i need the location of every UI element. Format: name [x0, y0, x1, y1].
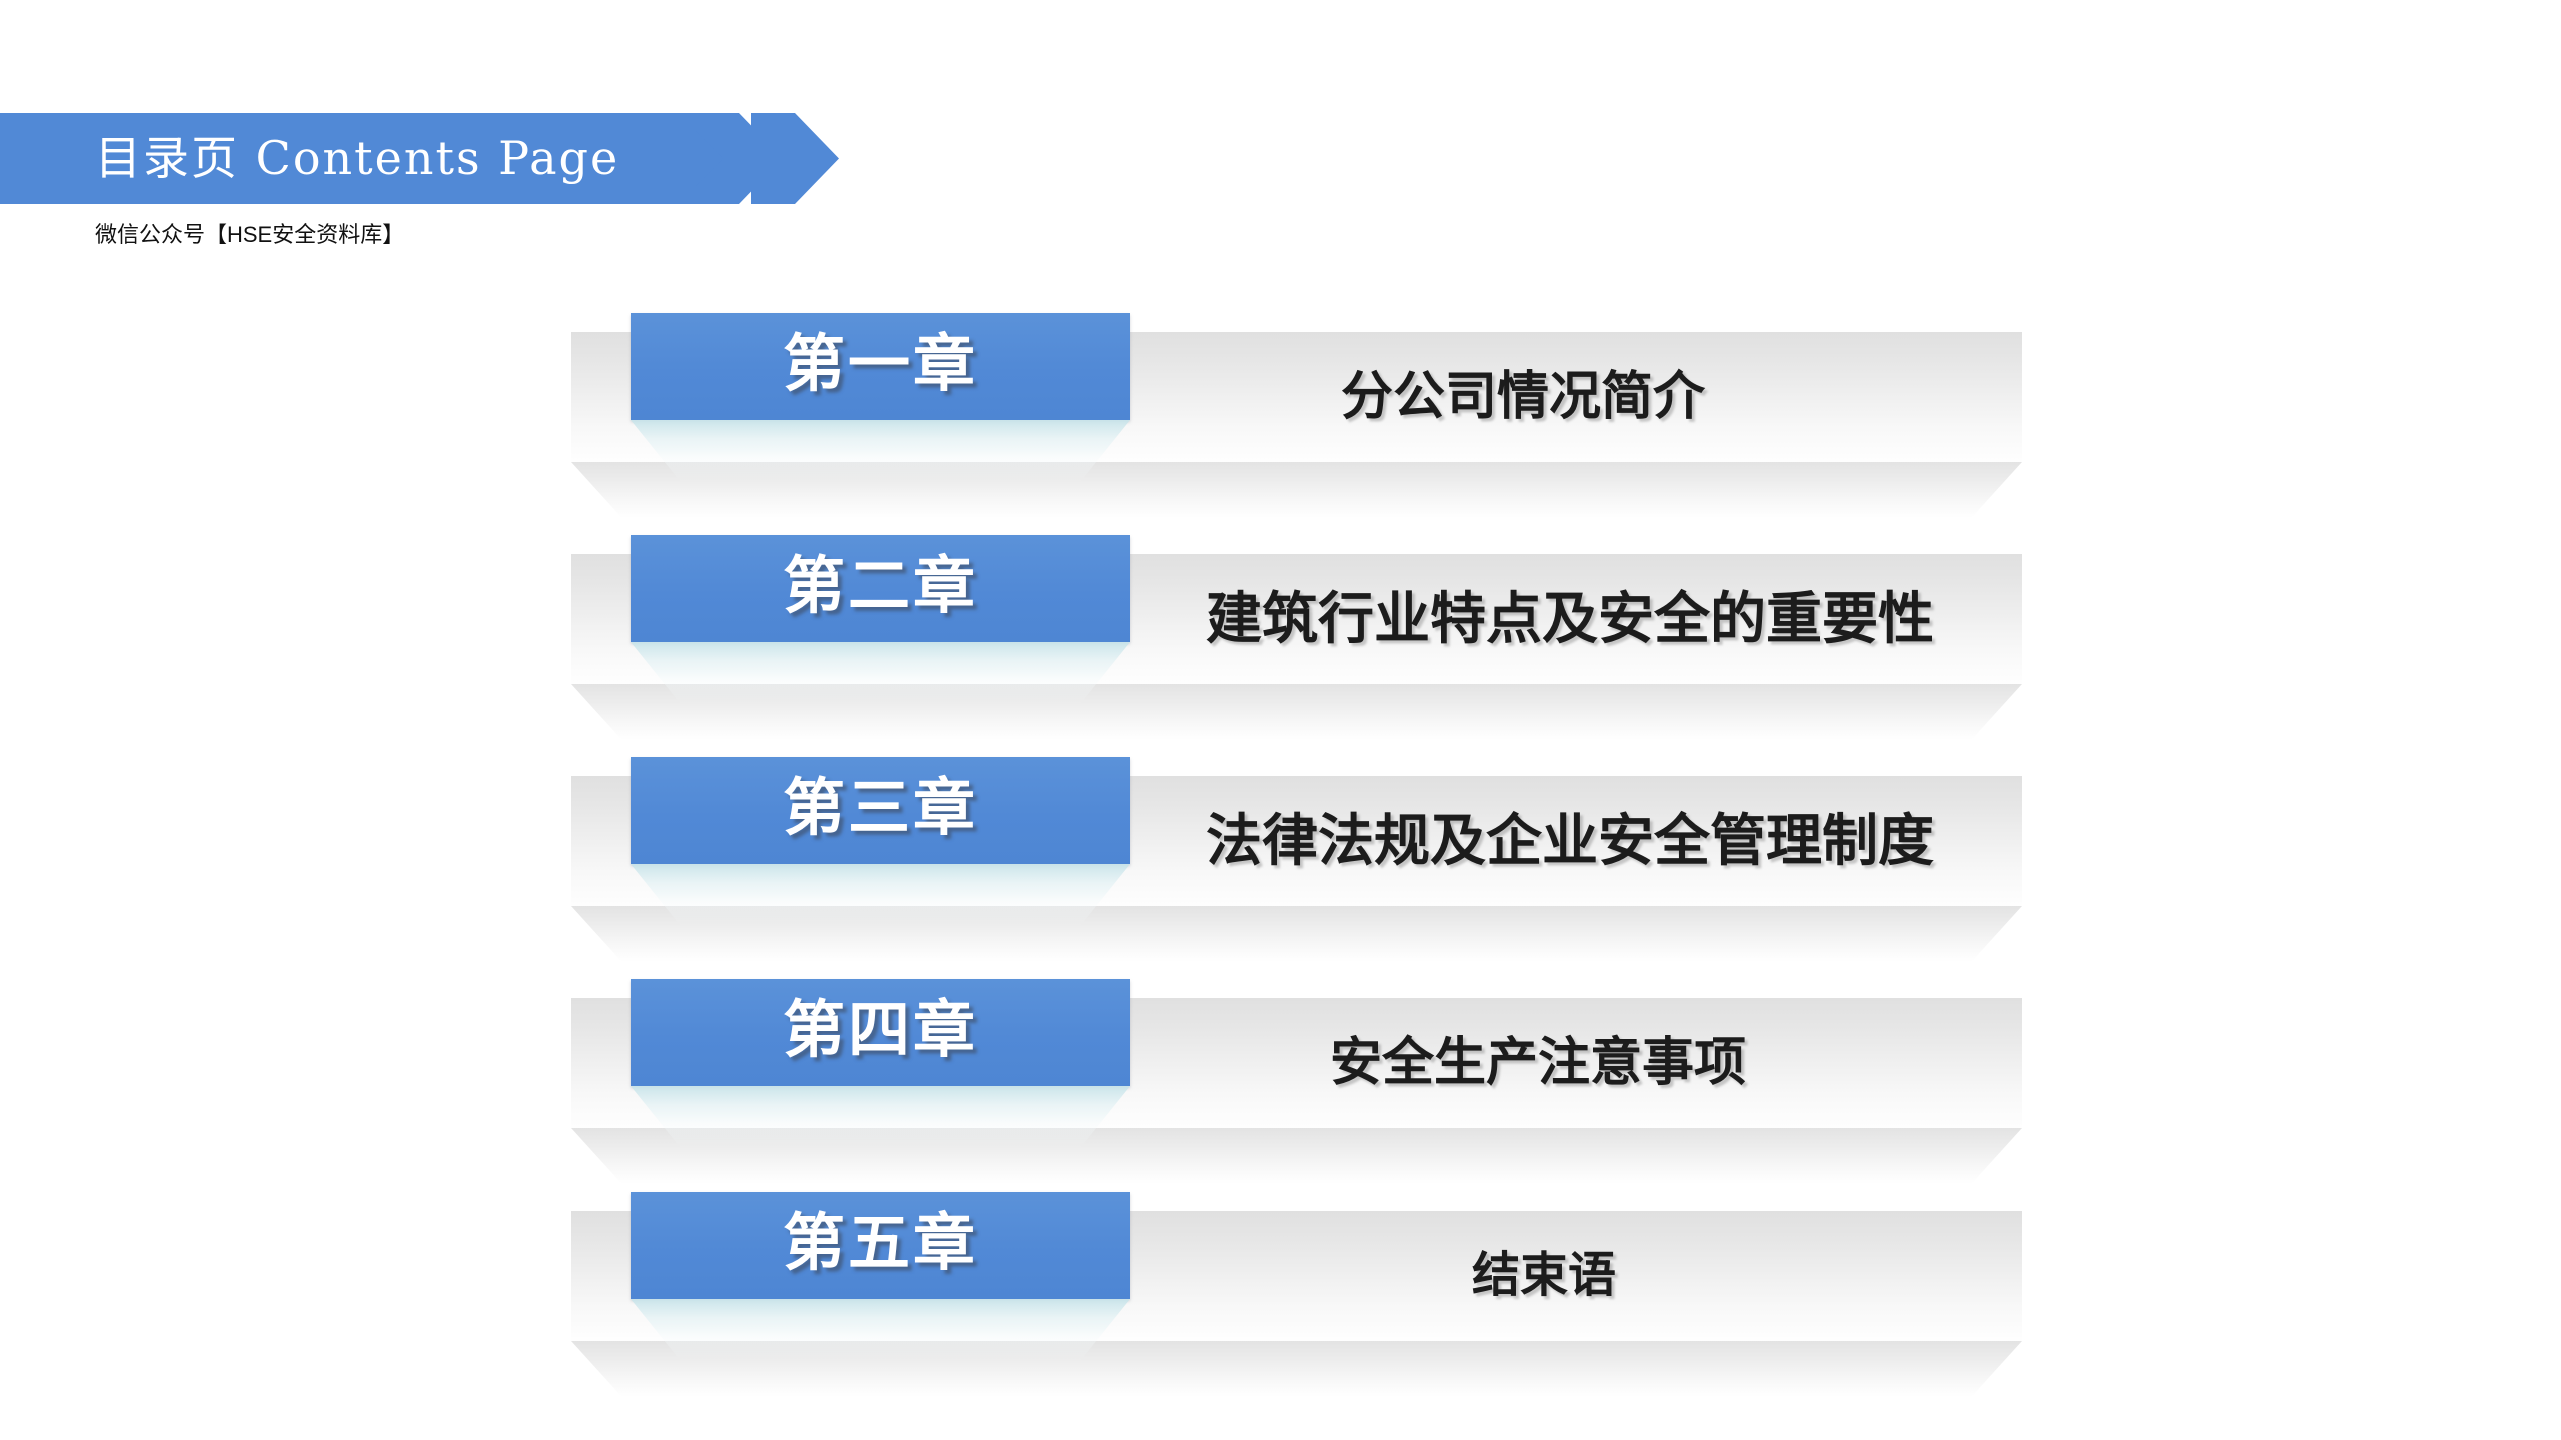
chapter-tab[interactable]: 第三章 — [631, 757, 1130, 864]
chapter-tab-label: 第四章 — [631, 979, 1130, 1086]
chapter-tab-reflection — [631, 1086, 1130, 1148]
chapter-tab-reflection — [631, 864, 1130, 926]
chapter-tab-reflection — [631, 1299, 1130, 1361]
list-item[interactable]: 第四章 安全生产注意事项 — [0, 979, 2561, 1201]
contents-list: 第一章 分公司情况简介 第二章 建筑行业特点及安全的重要性 第三章 法律法规及企… — [0, 0, 2561, 1440]
chapter-title: 结束语 — [1472, 1211, 1616, 1341]
list-item[interactable]: 第二章 建筑行业特点及安全的重要性 — [0, 535, 2561, 757]
chapter-tab-label: 第五章 — [631, 1192, 1130, 1299]
chapter-title: 安全生产注意事项 — [1330, 998, 1746, 1128]
chapter-tab[interactable]: 第五章 — [631, 1192, 1130, 1299]
chapter-title: 建筑行业特点及安全的重要性 — [1206, 554, 1934, 684]
chapter-tab[interactable]: 第四章 — [631, 979, 1130, 1086]
chapter-tab-label: 第一章 — [631, 313, 1130, 420]
list-item[interactable]: 第三章 法律法规及企业安全管理制度 — [0, 757, 2561, 979]
list-item[interactable]: 第五章 结束语 — [0, 1192, 2561, 1414]
chapter-title: 分公司情况简介 — [1341, 332, 1705, 462]
list-item[interactable]: 第一章 分公司情况简介 — [0, 313, 2561, 535]
chapter-tab[interactable]: 第一章 — [631, 313, 1130, 420]
chapter-tab[interactable]: 第二章 — [631, 535, 1130, 642]
chapter-tab-reflection — [631, 642, 1130, 704]
chapter-tab-reflection — [631, 420, 1130, 482]
chapter-title: 法律法规及企业安全管理制度 — [1206, 776, 1934, 906]
chapter-tab-label: 第三章 — [631, 757, 1130, 864]
chapter-tab-label: 第二章 — [631, 535, 1130, 642]
